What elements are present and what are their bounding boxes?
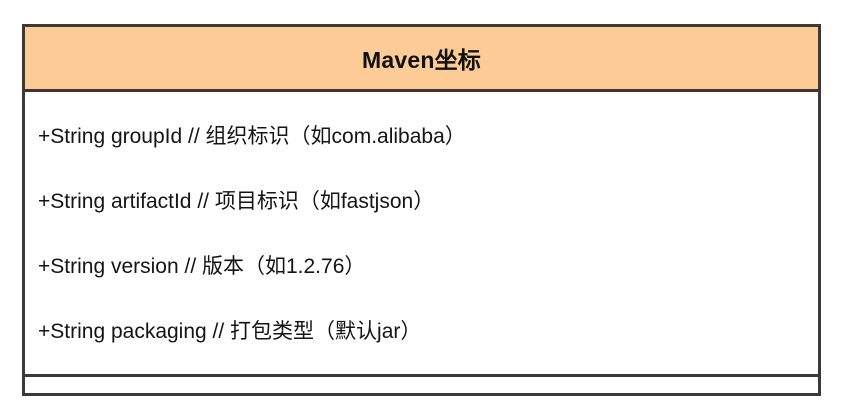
uml-attribute-text: +String version // 版本（如1.2.76） — [38, 254, 365, 279]
uml-attributes-compartment: +String groupId // 组织标识（如com.alibaba） +S… — [25, 92, 818, 377]
uml-class-header: Maven坐标 — [25, 27, 818, 92]
uml-class-title: Maven坐标 — [362, 41, 481, 75]
uml-attribute-text: +String artifactId // 项目标识（如fastjson） — [38, 189, 434, 214]
uml-attribute-text: +String packaging // 打包类型（默认jar） — [38, 319, 421, 344]
uml-attribute-row: +String version // 版本（如1.2.76） — [25, 234, 818, 299]
diagram-canvas: Maven坐标 +String groupId // 组织标识（如com.ali… — [0, 0, 846, 420]
uml-attribute-text: +String groupId // 组织标识（如com.alibaba） — [38, 124, 466, 149]
uml-attribute-row: +String artifactId // 项目标识（如fastjson） — [25, 169, 818, 234]
uml-attribute-row: +String packaging // 打包类型（默认jar） — [25, 299, 818, 364]
uml-class-box[interactable]: Maven坐标 +String groupId // 组织标识（如com.ali… — [22, 24, 821, 396]
uml-attribute-row: +String groupId // 组织标识（如com.alibaba） — [25, 104, 818, 169]
uml-methods-compartment — [25, 377, 818, 393]
